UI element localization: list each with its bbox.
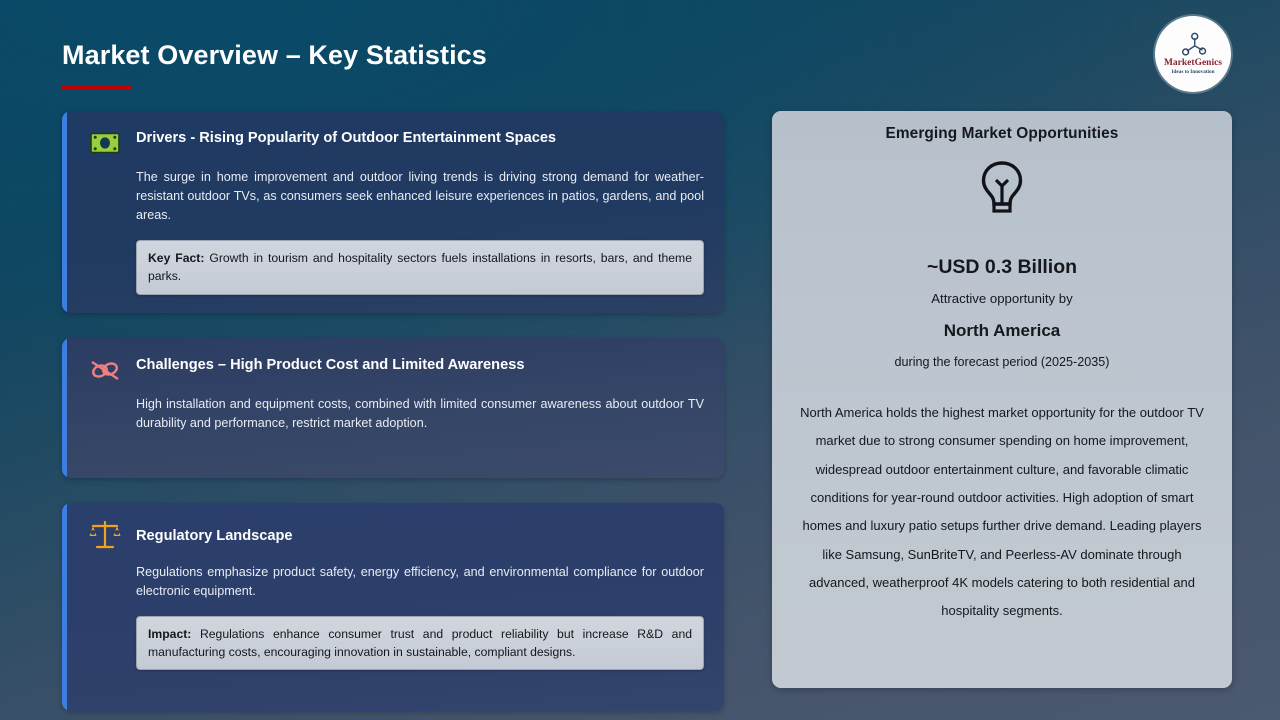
logo-name: MarketGenics [1164,59,1222,69]
opportunity-region: North America [790,321,1214,341]
card-regulatory[interactable]: Regulatory Landscape Regulations emphasi… [62,503,724,711]
lightbulb-icon [790,160,1214,220]
broken-link-icon [88,354,122,386]
opportunity-value: ~USD 0.3 Billion [790,256,1214,279]
card-body-text: The surge in home improvement and outdoo… [136,168,704,225]
card-body-text: Regulations emphasize product safety, en… [136,563,704,601]
callout-text: Regulations enhance consumer trust and p… [148,627,692,659]
opportunity-subtitle: Attractive opportunity by [790,291,1214,306]
card-header: Challenges – High Product Cost and Limit… [88,354,704,386]
scales-of-justice-icon [88,519,122,551]
card-body-text: High installation and equipment costs, c… [136,395,704,433]
title-underline-rule [62,85,132,90]
callout-label: Impact: [148,627,191,641]
insight-cards-column: Drivers - Rising Popularity of Outdoor E… [62,111,724,720]
network-nodes-icon [1179,32,1207,58]
callout-label: Key Fact: [148,251,204,265]
emerging-opportunities-panel: Emerging Market Opportunities ~USD 0.3 B… [772,111,1232,688]
opportunity-description: North America holds the highest market o… [790,399,1214,626]
card-header: Regulatory Landscape [88,519,704,551]
page-title: Market Overview – Key Statistics [62,40,487,71]
panel-title: Emerging Market Opportunities [790,125,1214,143]
card-title: Challenges – High Product Cost and Limit… [136,354,524,375]
card-header: Drivers - Rising Popularity of Outdoor E… [88,127,704,159]
key-fact-callout: Key Fact: Growth in tourism and hospital… [136,240,704,294]
money-banknote-icon [88,127,122,159]
callout-text: Growth in tourism and hospitality sector… [148,251,692,283]
card-title: Drivers - Rising Popularity of Outdoor E… [136,127,556,148]
brand-logo: MarketGenics Ideas to Innovation [1155,16,1231,92]
impact-callout: Impact: Regulations enhance consumer tru… [136,616,704,670]
card-title: Regulatory Landscape [136,519,293,546]
logo-tagline: Ideas to Innovation [1172,69,1215,76]
card-challenges[interactable]: Challenges – High Product Cost and Limit… [62,338,724,478]
forecast-period: during the forecast period (2025-2035) [790,355,1214,369]
card-drivers[interactable]: Drivers - Rising Popularity of Outdoor E… [62,111,724,313]
